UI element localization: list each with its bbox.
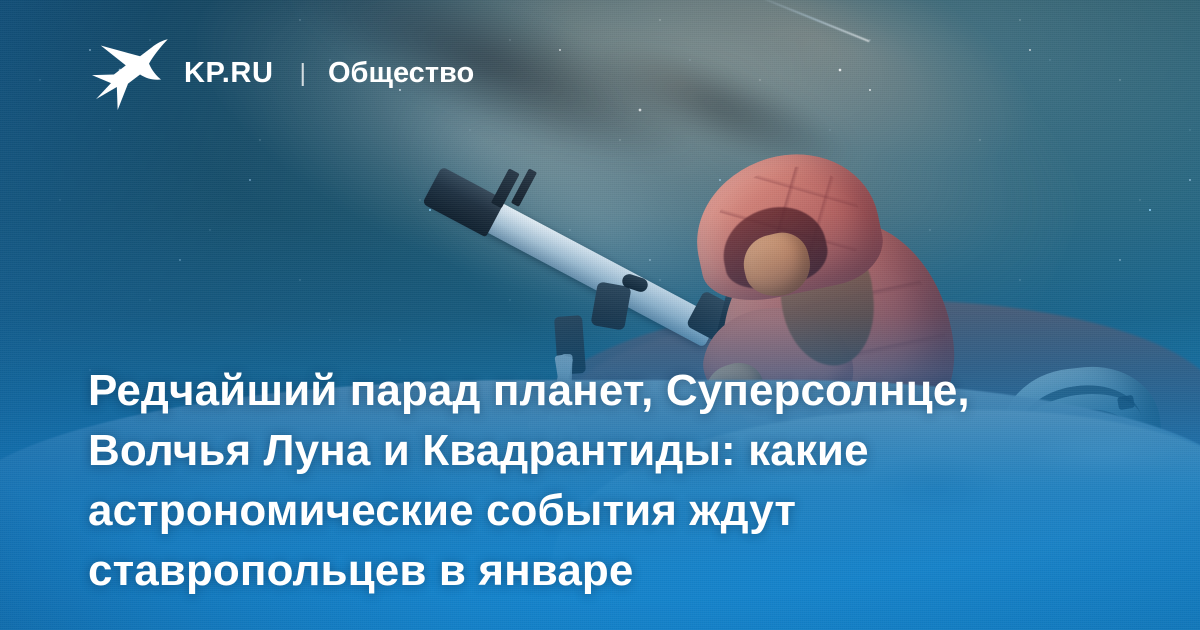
rubric-label[interactable]: Общество — [328, 57, 474, 90]
swallow-bird-logo-icon[interactable] — [88, 34, 172, 112]
brand-separator: | — [300, 61, 307, 86]
social-share-card: KP.RU | Общество Редчайший парад планет,… — [0, 0, 1200, 630]
brand-bar[interactable]: KP.RU | Общество — [88, 34, 474, 112]
article-headline: Редчайший парад планет, Суперсолнце, Вол… — [88, 361, 1098, 601]
telescope-mount-head — [590, 281, 631, 330]
brand-name[interactable]: KP.RU — [184, 57, 274, 90]
